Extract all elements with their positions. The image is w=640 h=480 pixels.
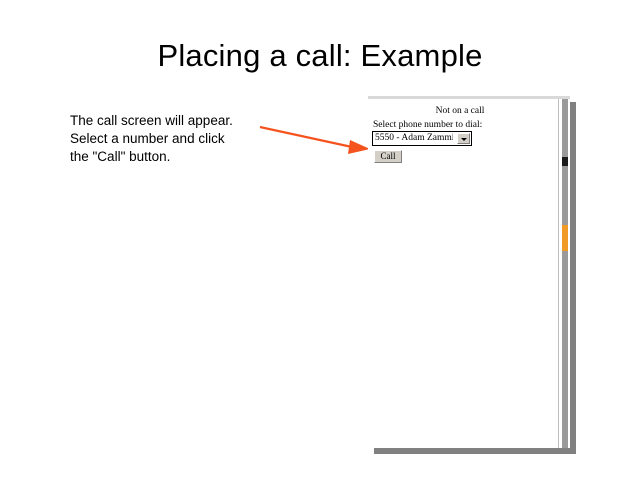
call-status-text: Not on a call	[368, 106, 552, 116]
call-button[interactable]: Call	[374, 150, 402, 163]
page-title: Placing a call: Example	[0, 38, 640, 74]
phone-number-dropdown[interactable]: 5550 - Adam Zammit	[372, 131, 472, 146]
chevron-down-icon[interactable]	[457, 133, 470, 144]
vertical-scrollbar[interactable]	[558, 99, 570, 448]
scrollbar-track[interactable]	[562, 99, 568, 448]
call-screen-content: Not on a call Select phone number to dia…	[368, 99, 558, 448]
body-line-1: The call screen will appear.	[70, 112, 285, 130]
slide-body-text: The call screen will appear. Select a nu…	[70, 112, 285, 166]
call-screen-window: Not on a call Select phone number to dia…	[368, 96, 570, 448]
phone-number-dropdown-value: 5550 - Adam Zammit	[375, 133, 453, 143]
body-line-2: Select a number and click	[70, 130, 285, 148]
scrollbar-mark	[562, 157, 568, 166]
chevron-down-glyph	[461, 138, 467, 141]
body-line-3: the "Call" button.	[70, 148, 285, 166]
scrollbar-thumb[interactable]	[562, 225, 568, 251]
phone-select-label: Select phone number to dial:	[373, 120, 482, 130]
